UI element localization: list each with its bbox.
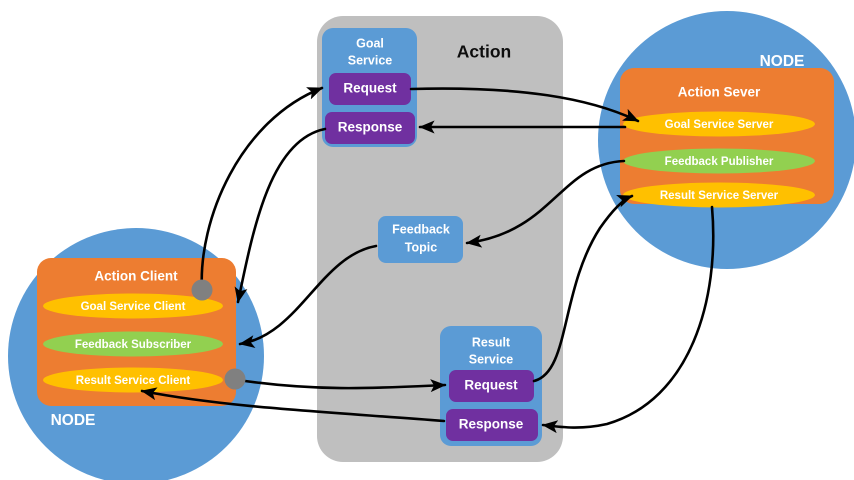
feedback-topic-title-line1: Feedback — [392, 222, 450, 236]
result-service-request-label: Request — [464, 378, 518, 393]
feedback-publisher[interactable]: Feedback Publisher — [623, 149, 815, 174]
result-service-response-label: Response — [459, 417, 524, 432]
goal-service-response[interactable]: Response — [325, 112, 415, 144]
goal-service-client-label: Goal Service Client — [81, 301, 186, 313]
result-service-server[interactable]: Result Service Server — [623, 183, 815, 208]
action-server-label: Action Sever — [678, 85, 761, 100]
result-service-box[interactable]: Result Service Request Response — [440, 326, 542, 446]
server-node[interactable]: NODE Action Sever Goal Service Server Fe… — [598, 11, 854, 269]
feedback-topic-title-line2: Topic — [405, 240, 437, 254]
feedback-subscriber[interactable]: Feedback Subscriber — [43, 332, 223, 357]
feedback-publisher-label: Feedback Publisher — [665, 156, 774, 168]
goal-service-box[interactable]: Goal Service Request Response — [322, 28, 417, 147]
client-node[interactable]: NODE Action Client Goal Service Client F… — [8, 228, 264, 480]
arrow-response-to-goal-client — [238, 129, 325, 302]
goal-service-title-line1: Goal — [356, 36, 384, 50]
result-service-server-label: Result Service Server — [660, 190, 779, 202]
goal-service-client-connector-dot — [192, 280, 213, 301]
result-service-title-line1: Result — [472, 335, 511, 349]
result-service-request[interactable]: Request — [449, 370, 534, 402]
result-service-title-line2: Service — [469, 352, 514, 366]
goal-service-response-label: Response — [338, 120, 403, 135]
result-service-client-label: Result Service Client — [76, 375, 191, 387]
action-architecture-diagram: Action NODE Action Sever Goal Service Se… — [0, 0, 854, 480]
goal-service-server[interactable]: Goal Service Server — [623, 112, 815, 137]
goal-service-request[interactable]: Request — [329, 73, 411, 105]
result-service-response[interactable]: Response — [446, 409, 538, 441]
action-client-label: Action Client — [94, 269, 178, 284]
goal-service-request-label: Request — [343, 81, 397, 96]
goal-service-server-label: Goal Service Server — [665, 119, 774, 131]
result-service-client-connector-dot — [225, 369, 246, 390]
action-panel-label: Action — [457, 42, 511, 62]
feedback-topic[interactable]: Feedback Topic — [378, 216, 463, 263]
server-node-label: NODE — [760, 53, 805, 70]
result-service-client[interactable]: Result Service Client — [43, 368, 223, 393]
goal-service-title-line2: Service — [348, 53, 393, 67]
feedback-subscriber-label: Feedback Subscriber — [75, 339, 192, 351]
client-node-label: NODE — [51, 412, 96, 429]
